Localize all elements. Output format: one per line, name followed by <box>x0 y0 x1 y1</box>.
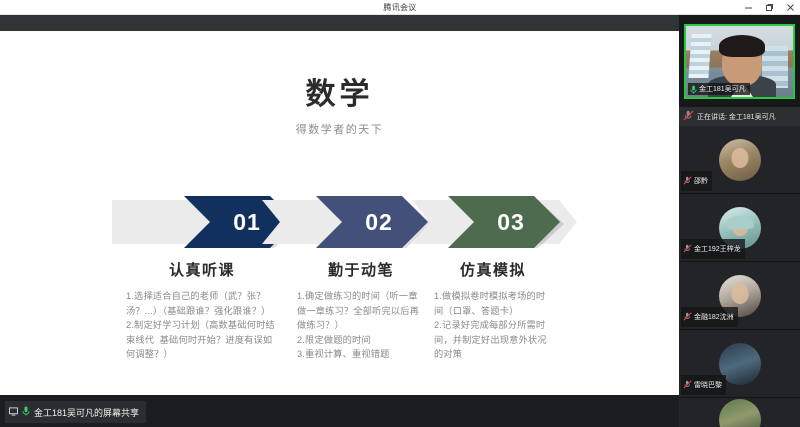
presentation-slide: 数学 得数学者的天下 01 02 03 <box>0 31 679 395</box>
tencent-meeting-window: 腾讯会议 数学 得数学者的天下 01 <box>0 0 800 427</box>
self-video-hair <box>719 35 765 57</box>
participant-name: 邵黔 <box>694 176 708 186</box>
mic-off-icon <box>683 376 692 394</box>
active-speaker-banner: 正在讲话: 金工181吴可凡 <box>679 107 800 126</box>
avatar <box>719 399 761 427</box>
mic-off-icon <box>683 308 692 326</box>
slide-column-2: 勤于动笔 1.确定做练习的时间（听一章做一章练习？全部听完以后再做练习？） 2.… <box>297 259 425 362</box>
column-body: 1.选择适合自己的老师（武？张？汤？...）（基础跟谁？强化跟谁？） 2.制定好… <box>126 289 278 362</box>
column-body: 1.做模拟卷时模拟考场的时间（口罩、答题卡） 2.记录好完成每部分所需时间，并制… <box>434 289 552 362</box>
self-video-tile[interactable]: 金工181吴可凡 <box>684 24 795 99</box>
participant-name: 金工181吴可凡 <box>699 84 746 94</box>
avatar-face <box>731 284 748 304</box>
participant-name-chip: 雷晓巴黎 <box>681 375 726 395</box>
participant-tile[interactable]: 金工192王梓龙 <box>679 194 800 262</box>
slide-column-1: 认真听课 1.选择适合自己的老师（武？张？汤？...）（基础跟谁？强化跟谁？） … <box>126 259 278 362</box>
step-chevron-band: 01 02 03 <box>112 196 577 248</box>
participant-tile[interactable]: 雷晓巴黎 <box>679 330 800 398</box>
chevron-number: 01 <box>219 209 261 236</box>
participant-name: 金融182沈洲 <box>694 312 734 322</box>
participant-name-chip: 金工192王梓龙 <box>681 239 745 259</box>
window-controls <box>743 0 796 15</box>
chevron-number: 03 <box>483 209 525 236</box>
self-video-name-chip: 金工181吴可凡 <box>688 83 750 95</box>
chevron-number: 02 <box>351 209 393 236</box>
bottom-status-bar: 金工181吴可凡的屏幕共享 <box>0 395 679 427</box>
participant-tile[interactable]: 网络192尹恭 <box>679 398 800 427</box>
slide-title: 数学 <box>0 69 679 113</box>
participant-name: 金工192王梓龙 <box>694 244 741 254</box>
participant-panel: 金工181吴可凡 正在讲话: 金工181吴可凡 邵黔 <box>679 15 800 427</box>
window-title: 腾讯会议 <box>383 2 416 13</box>
shared-screen-top-band <box>0 15 679 31</box>
slide-subtitle: 得数学者的天下 <box>0 121 679 137</box>
mic-on-icon <box>690 85 697 94</box>
column-heading: 勤于动笔 <box>297 259 425 280</box>
active-speaker-label: 正在讲话: 金工181吴可凡 <box>697 112 776 122</box>
avatar-hat <box>726 216 753 229</box>
participant-tile[interactable]: 金融182沈洲 <box>679 262 800 330</box>
minimize-icon[interactable] <box>743 2 754 13</box>
mic-on-icon <box>22 403 30 421</box>
screen-share-status: 金工181吴可凡的屏幕共享 <box>5 401 146 423</box>
mic-off-icon <box>683 172 692 190</box>
participant-name-chip: 金融182沈洲 <box>681 307 738 327</box>
mic-off-icon <box>683 240 692 258</box>
restore-icon[interactable] <box>764 2 775 13</box>
self-video-blinds-left <box>688 34 711 78</box>
title-bar: 腾讯会议 <box>0 0 800 15</box>
column-heading: 认真听课 <box>126 259 278 280</box>
column-body: 1.确定做练习的时间（听一章做一章练习？全部听完以后再做练习？） 2.限定做题的… <box>297 289 425 362</box>
shared-screen-area: 数学 得数学者的天下 01 02 03 <box>0 15 679 395</box>
slide-column-3: 仿真模拟 1.做模拟卷时模拟考场的时间（口罩、答题卡） 2.记录好完成每部分所需… <box>434 259 552 362</box>
mic-off-icon <box>683 108 694 126</box>
avatar <box>719 139 761 181</box>
avatar-face <box>731 148 748 168</box>
participant-tile[interactable]: 邵黔 <box>679 126 800 194</box>
column-heading: 仿真模拟 <box>434 259 552 280</box>
screen-share-label: 金工181吴可凡的屏幕共享 <box>34 406 139 419</box>
participant-name: 雷晓巴黎 <box>694 380 722 390</box>
close-icon[interactable] <box>785 2 796 13</box>
participant-name-chip: 邵黔 <box>681 171 712 191</box>
screen-share-icon <box>9 403 18 421</box>
